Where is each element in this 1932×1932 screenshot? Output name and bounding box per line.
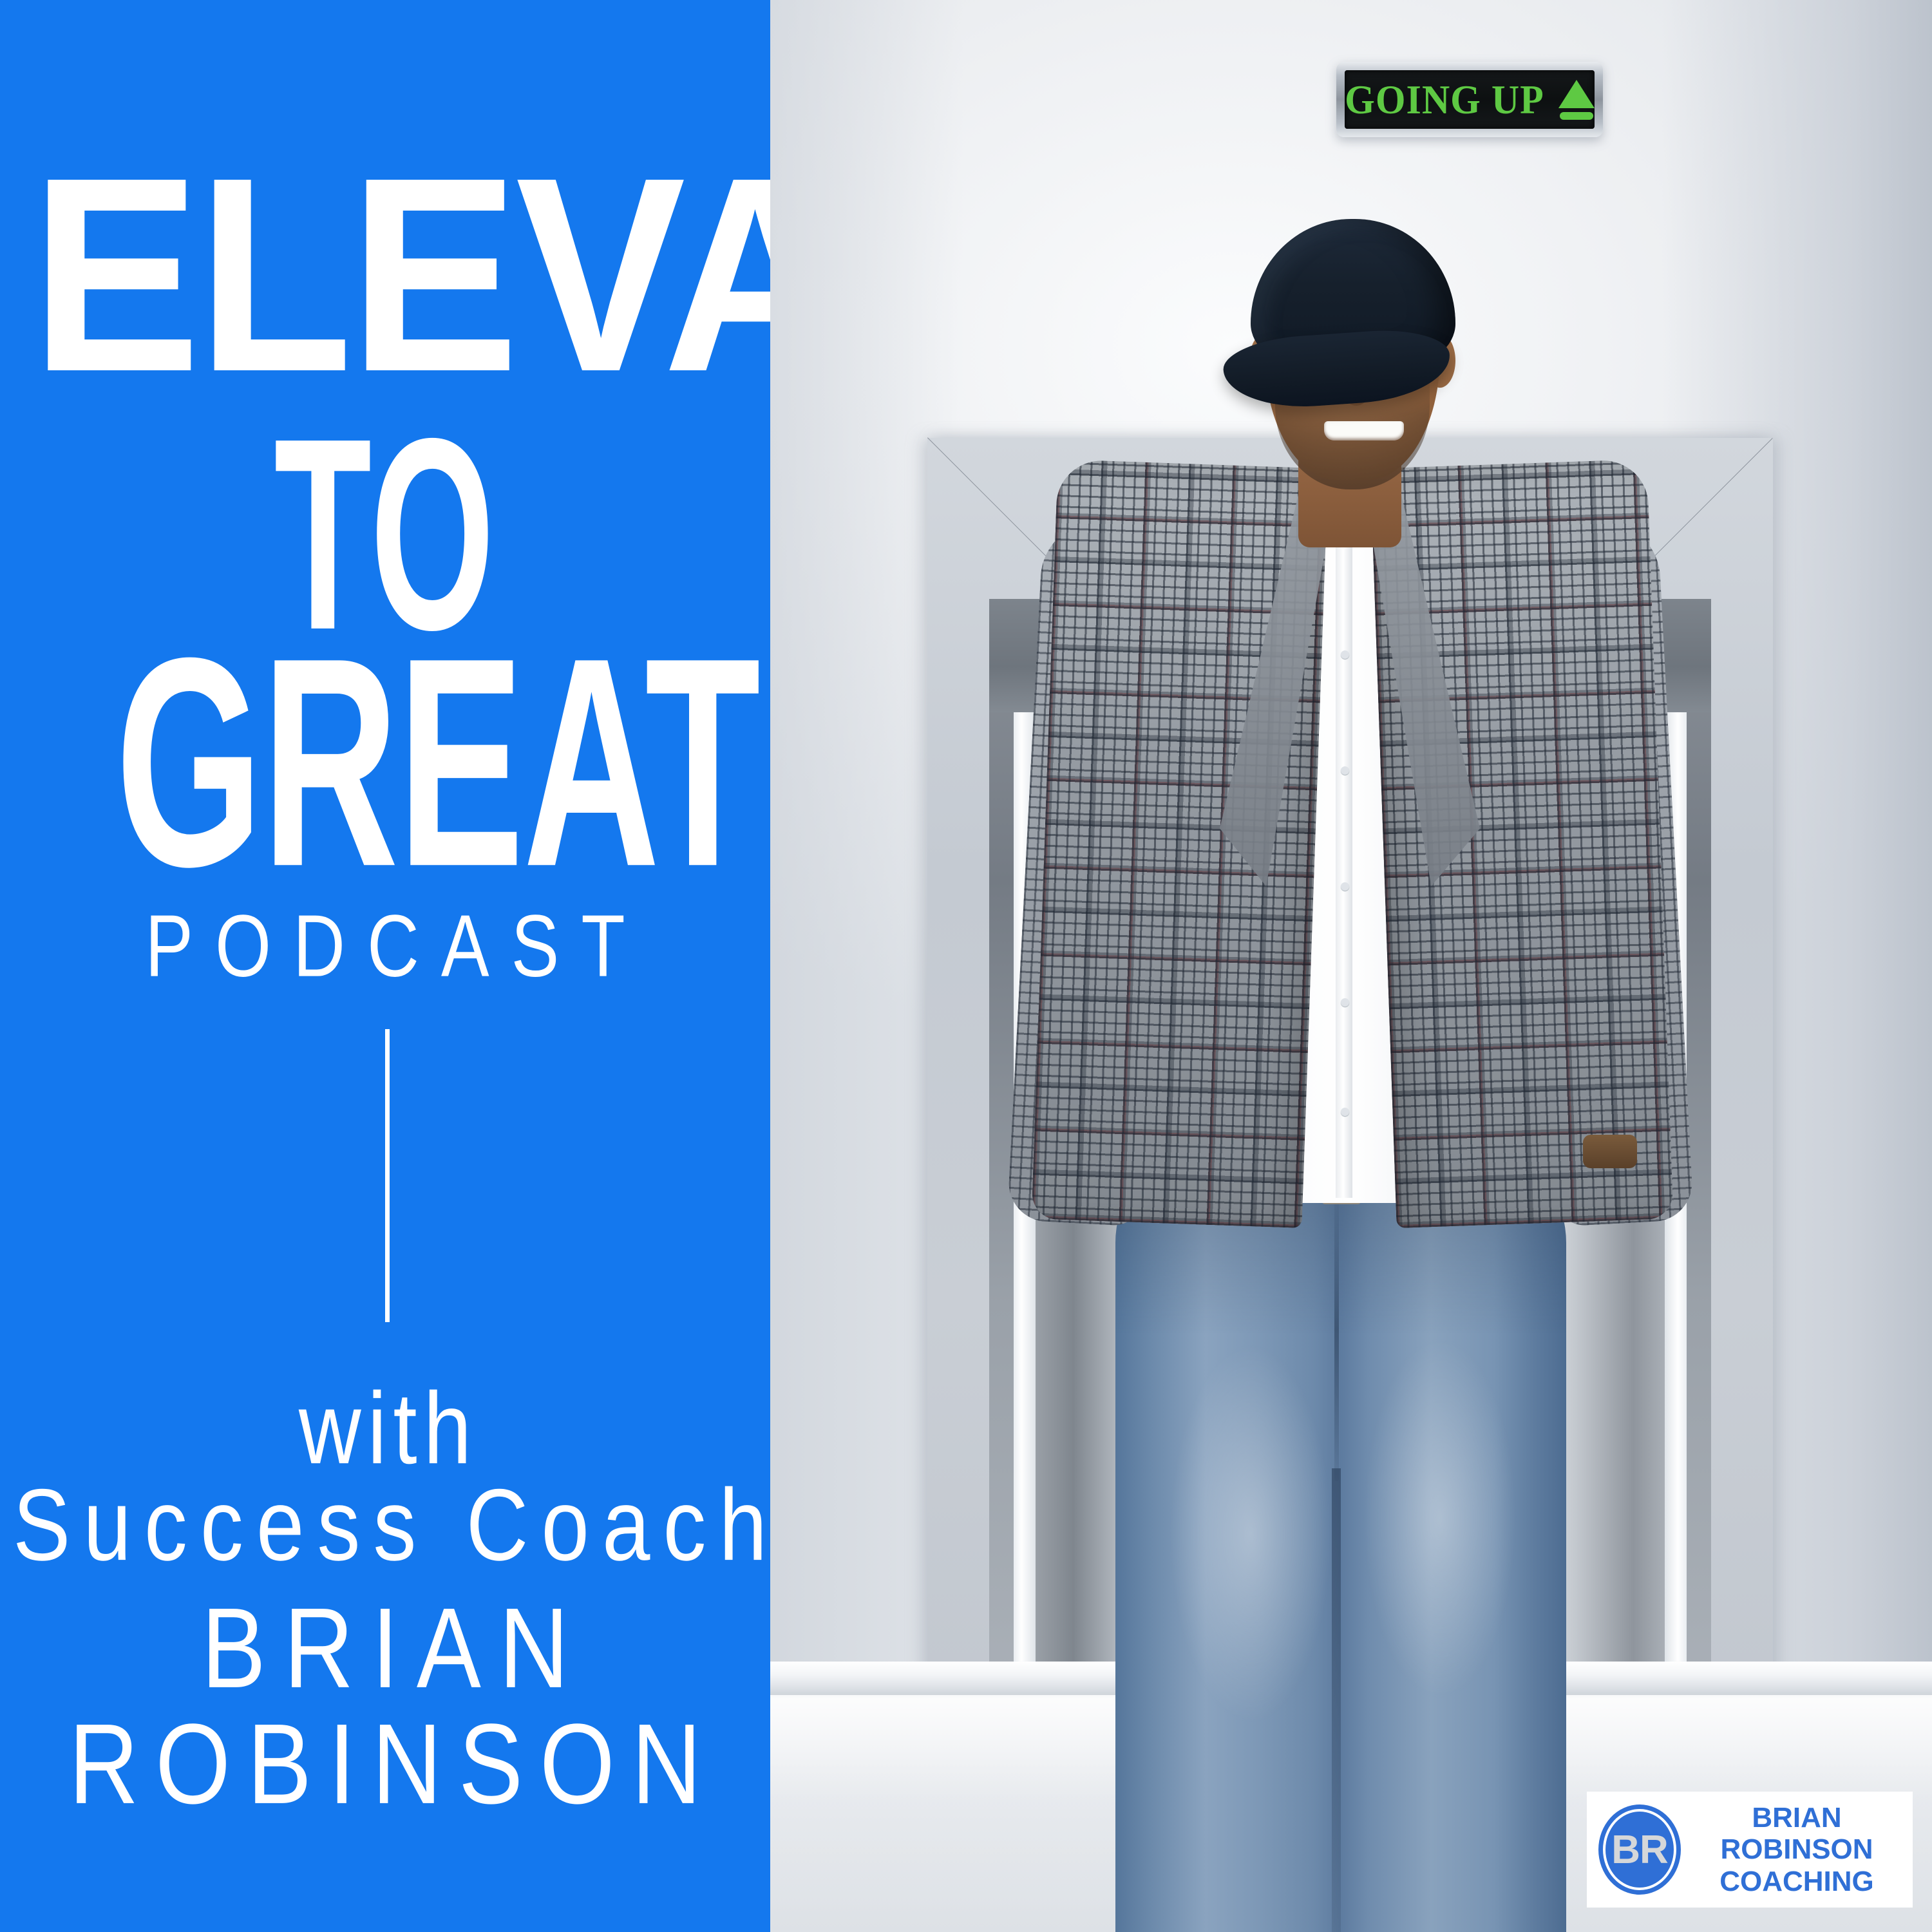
- format-label: PODCAST: [0, 895, 770, 996]
- jeans-inseam: [1332, 1468, 1341, 1932]
- br-monogram-icon: BR: [1598, 1804, 1681, 1895]
- shirt-button: [1341, 1108, 1349, 1116]
- host-last-name: ROBINSON: [0, 1707, 770, 1821]
- host-figure: [963, 161, 1723, 1932]
- elevator-indicator-sign: GOING UP: [1336, 62, 1603, 137]
- shirt-button: [1341, 766, 1349, 775]
- mouth: [1324, 421, 1404, 440]
- host-photo: GOING UP: [770, 0, 1932, 1932]
- wristwatch: [1583, 1135, 1637, 1168]
- shirt-button: [1341, 882, 1349, 891]
- podcast-title-line-1: ELEVATE: [31, 164, 739, 386]
- title-panel: ELEVATE TO GREAT PODCAST with Success Co…: [0, 0, 770, 1932]
- up-arrow-icon: [1558, 80, 1595, 120]
- shirt-placket: [1336, 522, 1352, 1198]
- host-prefix: with: [0, 1378, 770, 1480]
- shirt-button: [1341, 650, 1349, 659]
- going-up-label: GOING UP: [1345, 79, 1544, 120]
- logo-line-1: BRIAN ROBINSON: [1691, 1802, 1902, 1866]
- logo-initials: BR: [1611, 1827, 1668, 1873]
- coaching-logo-badge: BR BRIAN ROBINSON COACHING: [1587, 1792, 1913, 1908]
- host-role: Success Coach: [0, 1475, 770, 1577]
- host-first-name: BRIAN: [0, 1591, 770, 1705]
- logo-line-2: COACHING: [1691, 1866, 1902, 1897]
- jeans-seam: [1334, 1179, 1339, 1481]
- sign-screen: GOING UP: [1345, 70, 1595, 129]
- logo-wordmark: BRIAN ROBINSON COACHING: [1691, 1802, 1902, 1897]
- shirt-button: [1341, 998, 1349, 1007]
- vertical-divider: [385, 1029, 390, 1322]
- podcast-cover-art: ELEVATE TO GREAT PODCAST with Success Co…: [0, 0, 1932, 1932]
- jeans-shading: [1115, 1166, 1566, 1932]
- podcast-title-line-3: GREAT: [115, 644, 654, 882]
